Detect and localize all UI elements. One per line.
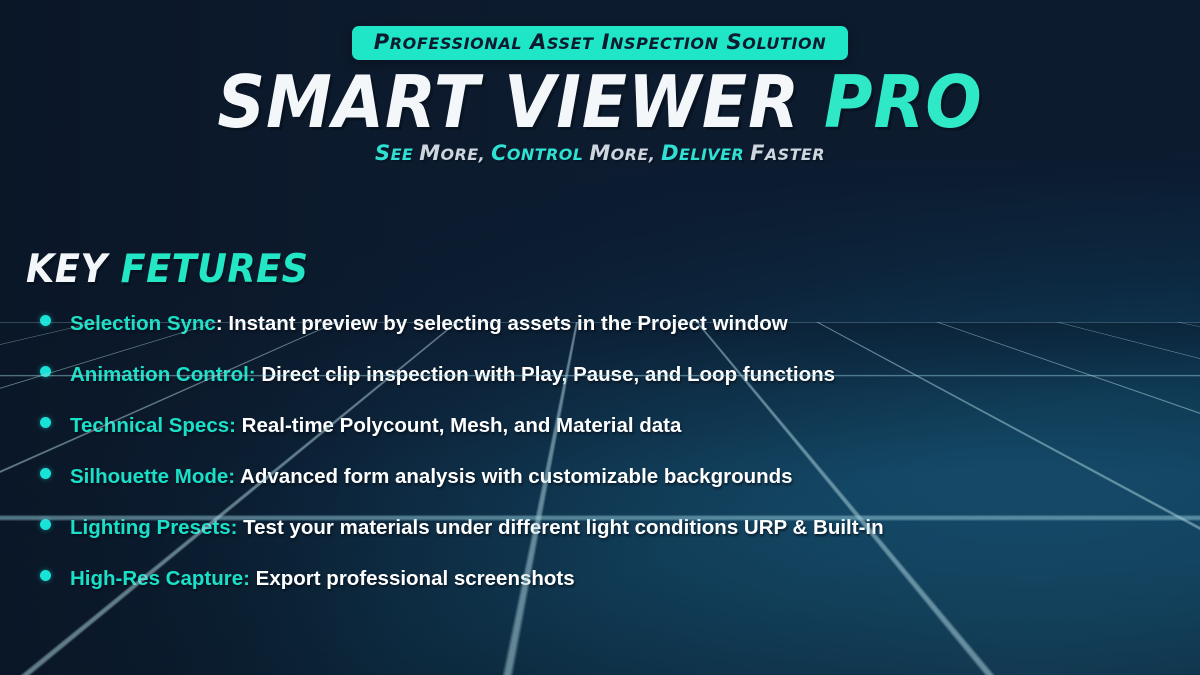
feature-description: Real-time Polycount, Mesh, and Material … bbox=[242, 414, 682, 437]
feature-separator: : bbox=[216, 312, 223, 335]
feature-description: Direct clip inspection with Play, Pause,… bbox=[261, 363, 835, 386]
title-accent: PRO bbox=[824, 60, 983, 144]
bullet-icon bbox=[40, 468, 51, 479]
feature-description: Export professional screenshots bbox=[256, 567, 575, 590]
section-heading: KEY FETURES bbox=[26, 250, 308, 289]
feature-text: High-Res Capture: Export professional sc… bbox=[70, 567, 575, 591]
header: PROFESSIONAL ASSET INSPECTION SOLUTION S… bbox=[0, 26, 1200, 165]
feature-label: Animation Control: bbox=[70, 363, 256, 386]
title-main: SMART VIEWER bbox=[217, 60, 800, 144]
list-item: Selection Sync: Instant preview by selec… bbox=[40, 312, 1180, 363]
list-item: Lighting Presets: Test your materials un… bbox=[40, 516, 1180, 567]
bullet-icon bbox=[40, 366, 51, 377]
tagline-badge: PROFESSIONAL ASSET INSPECTION SOLUTION bbox=[352, 26, 848, 60]
bullet-icon bbox=[40, 315, 51, 326]
feature-text: Silhouette Mode: Advanced form analysis … bbox=[70, 465, 793, 489]
list-item: Animation Control: Direct clip inspectio… bbox=[40, 363, 1180, 414]
section-heading-accent: FETURES bbox=[121, 247, 309, 292]
feature-label: Silhouette Mode: bbox=[70, 465, 235, 488]
feature-description: Test your materials under different ligh… bbox=[243, 516, 884, 539]
list-item: Silhouette Mode: Advanced form analysis … bbox=[40, 465, 1180, 516]
feature-label: Technical Specs: bbox=[70, 414, 236, 437]
badge-label: PROFESSIONAL ASSET INSPECTION SOLUTION bbox=[374, 30, 826, 54]
bullet-icon bbox=[40, 570, 51, 581]
feature-text: Lighting Presets: Test your materials un… bbox=[70, 516, 884, 540]
feature-list: Selection Sync: Instant preview by selec… bbox=[40, 312, 1180, 618]
feature-label: Lighting Presets: bbox=[70, 516, 237, 539]
feature-label: Selection Sync bbox=[70, 312, 216, 335]
promo-slide: PROFESSIONAL ASSET INSPECTION SOLUTION S… bbox=[0, 0, 1200, 675]
feature-text: Selection Sync: Instant preview by selec… bbox=[70, 312, 788, 336]
feature-description: Instant preview by selecting assets in t… bbox=[228, 312, 787, 335]
feature-text: Animation Control: Direct clip inspectio… bbox=[70, 363, 835, 387]
page-title: SMART VIEWER PRO bbox=[48, 66, 1152, 139]
tagline: SEEMORE,CONTROLMORE,DELIVERFASTER bbox=[0, 141, 1200, 165]
tagline-word-4: DELIVER bbox=[661, 141, 744, 165]
tagline-word-0: SEE bbox=[375, 141, 413, 165]
list-item: High-Res Capture: Export professional sc… bbox=[40, 567, 1180, 618]
feature-label: High-Res Capture: bbox=[70, 567, 250, 590]
feature-text: Technical Specs: Real-time Polycount, Me… bbox=[70, 414, 681, 438]
tagline-word-3: MORE, bbox=[589, 141, 655, 165]
tagline-word-1: MORE, bbox=[419, 141, 485, 165]
tagline-word-5: FASTER bbox=[750, 141, 825, 165]
section-heading-primary: KEY bbox=[26, 247, 107, 292]
bullet-icon bbox=[40, 519, 51, 530]
feature-description: Advanced form analysis with customizable… bbox=[240, 465, 793, 488]
bullet-icon bbox=[40, 417, 51, 428]
list-item: Technical Specs: Real-time Polycount, Me… bbox=[40, 414, 1180, 465]
tagline-word-2: CONTROL bbox=[491, 141, 583, 165]
